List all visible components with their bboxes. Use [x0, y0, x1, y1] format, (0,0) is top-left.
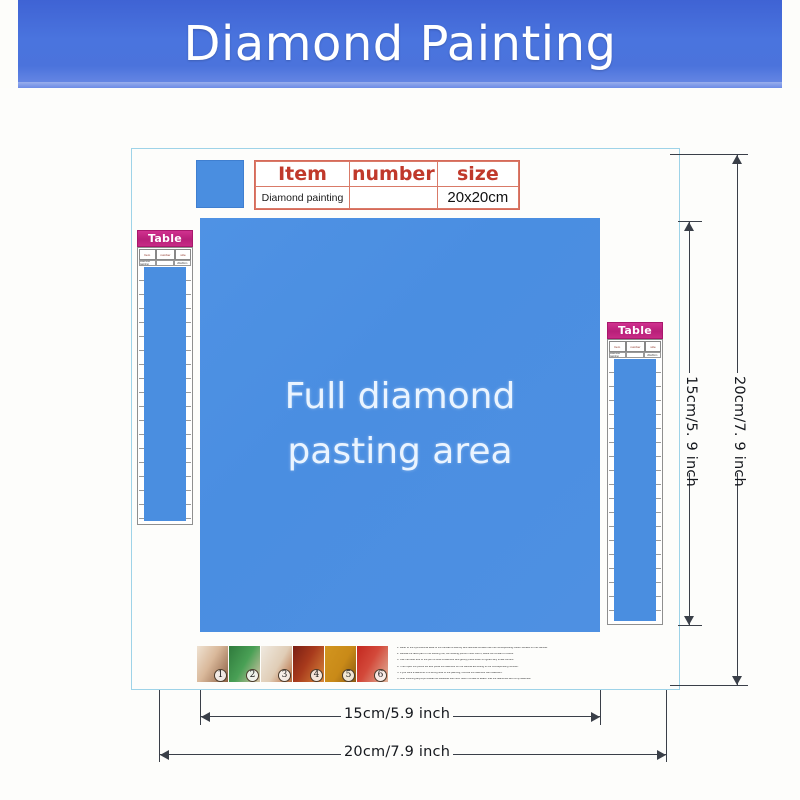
inner-horizontal-arrow-right: [591, 712, 600, 722]
outer-horz-ext-right: [666, 690, 667, 762]
header-banner: Diamond Painting: [0, 0, 800, 88]
outer-horizontal-dim-label: 20cm/7.9 inch: [341, 744, 453, 760]
spec-table: Item number size Diamond painting 20x20c…: [254, 160, 520, 210]
instruction-thumb-2: 2: [229, 646, 261, 682]
left-strip-ticks-left: [139, 267, 144, 521]
thumb-number-6: 6: [374, 669, 387, 682]
inner-vertical-dim-label: 15cm/5. 9 inch: [683, 373, 699, 473]
right-strip-ticks-left: [609, 359, 614, 621]
right-mini-table-header: Item number size: [609, 341, 661, 352]
instruction-line-4: 4. Then open the points list and press t…: [397, 666, 601, 669]
banner-right-margin: [782, 0, 800, 88]
spec-value-item: Diamond painting: [256, 187, 350, 209]
right-mini-table-row: Diamond painting 20x20cm: [609, 352, 661, 358]
outer-horizontal-arrow-left: [160, 750, 169, 760]
outer-horizontal-arrow-right: [657, 750, 666, 760]
left-mini-value-size: 20x20cm: [174, 260, 191, 266]
instruction-line-1: 1. Refer to the symmetrical table of the…: [397, 647, 601, 650]
inner-vert-ext-bottom: [678, 625, 702, 626]
page-title: Diamond Painting: [184, 16, 617, 72]
left-mini-value-number: [156, 260, 173, 266]
thumb-number-5: 5: [342, 669, 355, 682]
left-mini-value-item: Diamond painting: [139, 260, 156, 266]
table-row: Diamond painting 20x20cm: [256, 187, 519, 209]
right-mini-value-size: 20x20cm: [644, 352, 661, 358]
instruction-thumb-5: 5: [325, 646, 357, 682]
left-mini-table-row: Diamond painting 20x20cm: [139, 260, 191, 266]
right-mini-header-size: size: [645, 341, 661, 352]
instruction-line-6: 6. After finishing any/a print/seal the …: [397, 678, 601, 681]
instruction-line-3: 3. Use the facet end of the pen to suck …: [397, 659, 601, 662]
thumb-number-4: 4: [310, 669, 323, 682]
diagram-canvas: Diamond Painting Item number size Diamon…: [0, 0, 800, 800]
right-mini-header-number: number: [626, 341, 645, 352]
left-strip-ticks-right: [186, 267, 191, 521]
right-mini-value-number: [626, 352, 643, 358]
left-mini-table-header: Item number size: [139, 249, 191, 260]
left-table-badge: Table: [137, 230, 193, 247]
inner-horizontal-arrow-left: [201, 712, 210, 722]
instruction-line-2: 2. Reveal the facet part of the sticking…: [397, 653, 601, 656]
instruction-strip: 1 2 3 4 5 6 1. Refer to the symmetrical …: [197, 646, 601, 682]
left-mini-header-size: size: [175, 249, 191, 260]
thumb-number-3: 3: [278, 669, 291, 682]
spec-header-size: size: [437, 162, 518, 187]
right-strip-ticks-right: [656, 359, 661, 621]
spec-value-number: [349, 187, 437, 209]
right-mini-header-item: Item: [609, 341, 626, 352]
left-strip-canvas: [144, 267, 186, 521]
left-mini-header-item: Item: [139, 249, 156, 260]
paste-area-label-line2: pasting area: [287, 425, 512, 480]
right-strip-canvas: [614, 359, 656, 621]
right-table-body: Item number size Diamond painting 20x20c…: [607, 339, 663, 625]
instruction-thumbnails: 1 2 3 4 5 6: [197, 646, 389, 682]
instruction-line-5: 5. If you stick a diamond in a wrong sid…: [397, 672, 601, 675]
thumb-number-2: 2: [246, 669, 259, 682]
thumb-number-1: 1: [214, 669, 227, 682]
outer-vert-ext-bottom: [670, 685, 748, 686]
left-mini-header-number: number: [156, 249, 175, 260]
outer-vertical-arrow-down: [732, 676, 742, 685]
inner-vertical-arrow-down: [684, 616, 694, 625]
spec-header-number: number: [349, 162, 437, 187]
instruction-thumb-4: 4: [293, 646, 325, 682]
paste-area-label-line1: Full diamond: [285, 370, 516, 425]
spec-header-item: Item: [256, 162, 350, 187]
left-table-body: Item number size Diamond painting 20x20c…: [137, 247, 193, 525]
instruction-thumb-1: 1: [197, 646, 229, 682]
instruction-text-block: 1. Refer to the symmetrical table of the…: [397, 647, 601, 681]
right-table-badge: Table: [607, 322, 663, 339]
right-mini-value-item: Diamond painting: [609, 352, 626, 358]
inner-vertical-arrow-up: [684, 222, 694, 231]
spec-table-header-row: Item number size: [256, 162, 519, 187]
outer-vertical-arrow-up: [732, 155, 742, 164]
spec-value-size: 20x20cm: [437, 187, 518, 209]
right-table-strip: Table Item number size Diamond painting …: [607, 322, 663, 625]
instruction-thumb-3: 3: [261, 646, 293, 682]
instruction-thumb-6: 6: [357, 646, 389, 682]
outer-vertical-dim-label: 20cm/7. 9 inch: [731, 373, 747, 473]
left-table-strip: Table Item number size Diamond painting …: [137, 230, 193, 525]
full-diamond-pasting-area: Full diamond pasting area: [200, 218, 600, 632]
inner-horizontal-dim-label: 15cm/5.9 inch: [341, 706, 453, 722]
banner-left-margin: [0, 0, 18, 88]
color-swatch: [196, 160, 244, 208]
inner-horz-ext-right: [600, 690, 601, 725]
